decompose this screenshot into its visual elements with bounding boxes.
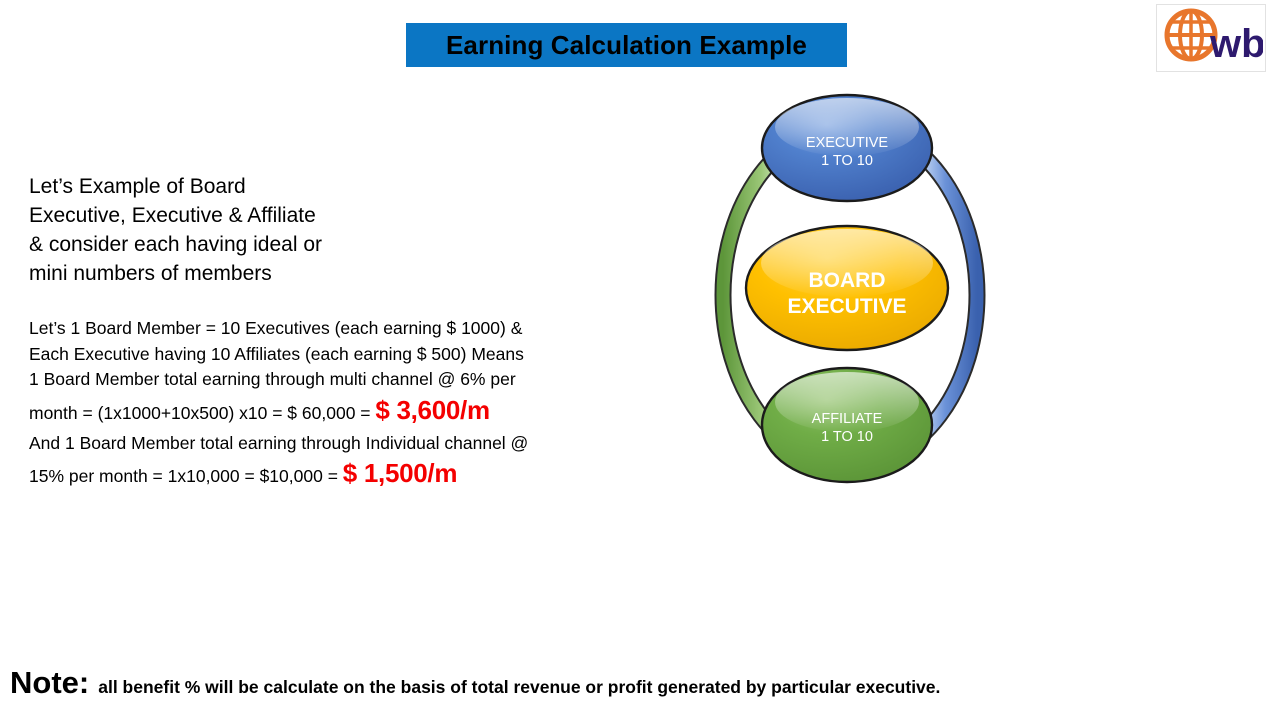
note-bar: Note: all benefit % will be calculate on…	[10, 665, 1270, 701]
multi-channel-earning: $ 3,600/m	[375, 395, 489, 425]
calc-individual-prefix: 15% per month = 1x10,000 = $10,000 =	[29, 466, 343, 486]
calc-line-2: Each Executive having 10 Affiliates (eac…	[29, 342, 659, 368]
node-affiliate-line1: AFFILIATE	[812, 411, 883, 427]
cycle-diagram: EXECUTIVE 1 TO 10 BOARD EXECUTIVE AFFILI…	[690, 85, 1020, 505]
node-executive-line2: 1 TO 10	[821, 153, 873, 169]
calc-line-individual: And 1 Board Member total earning through…	[29, 431, 659, 457]
node-affiliate[interactable]: AFFILIATE 1 TO 10	[762, 368, 932, 482]
calculation-block: Let’s 1 Board Member = 10 Executives (ea…	[29, 316, 659, 494]
node-affiliate-line2: 1 TO 10	[821, 429, 873, 445]
calc-line-multi: month = (1x1000+10x500) x10 = $ 60,000 =…	[29, 393, 659, 431]
wbg-wordmark: wbg	[1209, 22, 1263, 66]
intro-paragraph: Let’s Example of Board Executive, Execut…	[29, 172, 429, 288]
calc-multi-prefix: month = (1x1000+10x500) x10 = $ 60,000 =	[29, 403, 375, 423]
page-title: Earning Calculation Example	[446, 30, 807, 61]
individual-channel-earning: $ 1,500/m	[343, 458, 457, 488]
calc-line-1: Let’s 1 Board Member = 10 Executives (ea…	[29, 316, 659, 342]
calc-line-3: 1 Board Member total earning through mul…	[29, 367, 659, 393]
wbg-logo: wbg	[1156, 4, 1266, 72]
note-label: Note:	[10, 665, 89, 701]
node-executive[interactable]: EXECUTIVE 1 TO 10	[762, 95, 932, 201]
globe-icon	[1167, 11, 1215, 59]
note-body: all benefit % will be calculate on the b…	[98, 677, 940, 698]
node-board-executive-line1: BOARD	[809, 269, 886, 292]
slide-title-banner: Earning Calculation Example	[406, 23, 847, 67]
node-board-executive[interactable]: BOARD EXECUTIVE	[746, 226, 948, 350]
wbg-logo-graphic: wbg	[1157, 5, 1263, 69]
calc-line-individual-result: 15% per month = 1x10,000 = $10,000 = $ 1…	[29, 456, 659, 494]
node-board-executive-line2: EXECUTIVE	[787, 295, 906, 318]
node-executive-line1: EXECUTIVE	[806, 135, 889, 151]
